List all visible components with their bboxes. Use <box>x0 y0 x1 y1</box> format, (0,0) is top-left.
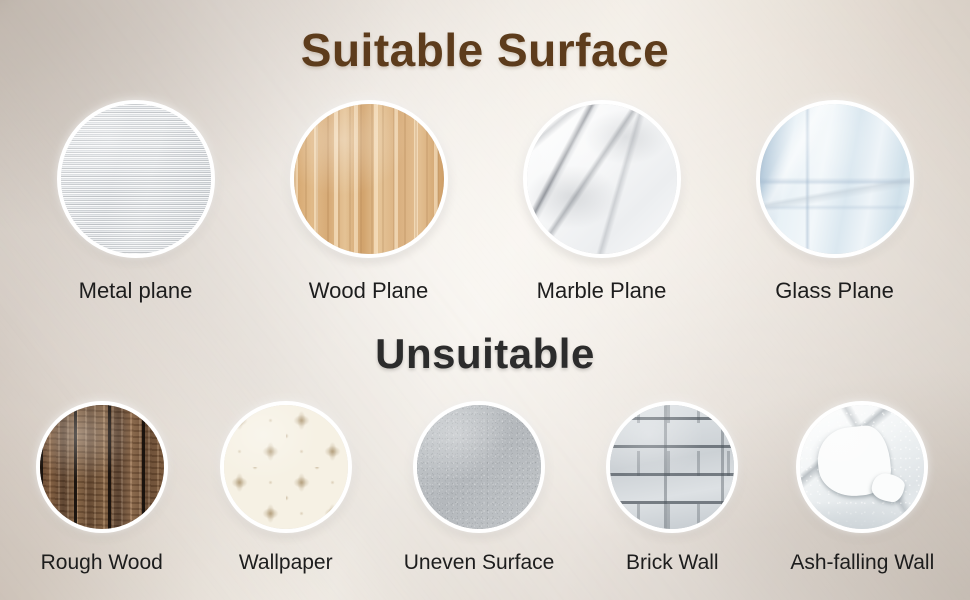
whitewashed-brick-texture <box>610 405 734 529</box>
unsuitable-item-ash-falling-wall: Ash-falling Wall <box>790 401 934 575</box>
unsuitable-heading: Unsuitable <box>0 330 970 378</box>
unsuitable-label-brick-wall: Brick Wall <box>626 551 719 575</box>
brushed-metal-texture <box>61 104 211 254</box>
unsuitable-label-uneven-surface: Uneven Surface <box>404 551 555 575</box>
suitable-item-wood-plane: Wood Plane <box>290 100 448 304</box>
peeling-paint-flake-small <box>870 471 907 504</box>
suitable-label-wood-plane: Wood Plane <box>309 278 428 304</box>
suitable-item-marble-plane: Marble Plane <box>523 100 681 304</box>
weathered-plank-texture <box>40 405 164 529</box>
suitable-surface-row: Metal plane Wood Plane Marble Plane Glas… <box>0 100 970 304</box>
suitable-label-metal-plane: Metal plane <box>79 278 193 304</box>
swatch-ash-falling-wall <box>796 401 928 533</box>
infographic-poster: Suitable Surface Metal plane Wood Plane … <box>0 0 970 600</box>
swatch-brick-wall <box>606 401 738 533</box>
unsuitable-item-brick-wall: Brick Wall <box>606 401 738 575</box>
unsuitable-surface-row: Rough Wood Wallpaper Uneven Surface Bric… <box>0 401 970 575</box>
swatch-rough-wood <box>36 401 168 533</box>
suitable-item-metal-plane: Metal plane <box>57 100 215 304</box>
unsuitable-label-wallpaper: Wallpaper <box>239 551 333 575</box>
unsuitable-label-rough-wood: Rough Wood <box>41 551 163 575</box>
glass-reflection-texture <box>760 104 910 254</box>
swatch-wood-plane <box>290 100 448 258</box>
unsuitable-item-rough-wood: Rough Wood <box>36 401 168 575</box>
unsuitable-item-uneven-surface: Uneven Surface <box>404 401 555 575</box>
swatch-glass-plane <box>756 100 914 258</box>
white-marble-texture <box>527 104 677 254</box>
light-oak-wood-texture <box>294 104 444 254</box>
swatch-uneven-surface <box>413 401 545 533</box>
swatch-metal-plane <box>57 100 215 258</box>
suitable-heading: Suitable Surface <box>0 23 970 77</box>
unsuitable-label-ash-falling-wall: Ash-falling Wall <box>790 551 934 575</box>
granular-stucco-texture <box>417 405 541 529</box>
suitable-label-marble-plane: Marble Plane <box>537 278 667 304</box>
peeling-plaster-texture <box>800 405 924 529</box>
suitable-label-glass-plane: Glass Plane <box>775 278 894 304</box>
suitable-item-glass-plane: Glass Plane <box>756 100 914 304</box>
unsuitable-item-wallpaper: Wallpaper <box>220 401 352 575</box>
swatch-marble-plane <box>523 100 681 258</box>
damask-wallpaper-texture <box>224 405 348 529</box>
swatch-wallpaper <box>220 401 352 533</box>
